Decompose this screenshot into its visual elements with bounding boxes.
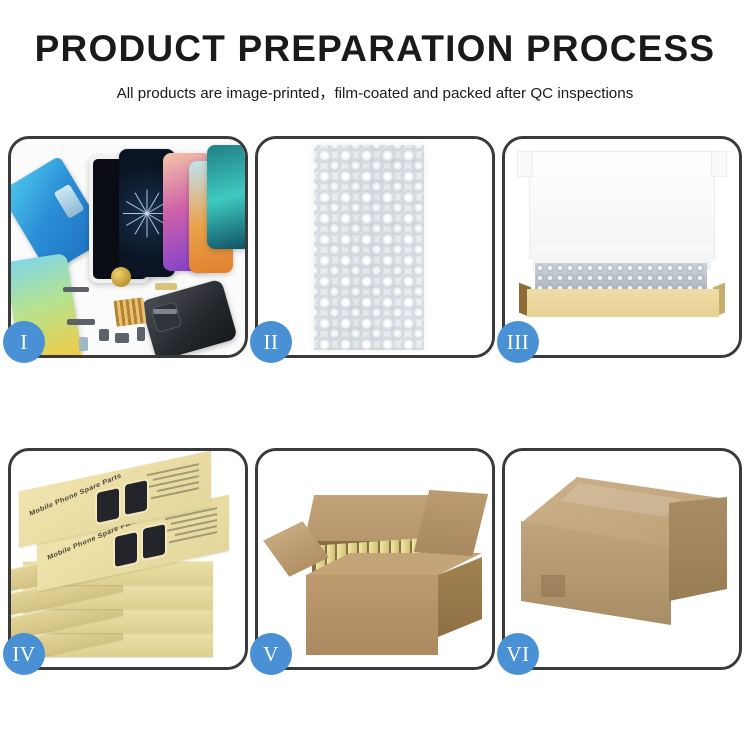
part-gold-disc <box>111 267 131 287</box>
step-badge-5: V <box>250 633 292 675</box>
step-panel-2: II <box>255 136 495 358</box>
open-carton <box>272 491 484 665</box>
step-badge-6: VI <box>497 633 539 675</box>
lid-phone-thumb-4 <box>143 524 165 559</box>
lid-phone-thumb-3 <box>115 532 137 567</box>
part-flex-cable-2 <box>67 319 95 325</box>
page-subtitle: All products are image-printed，film-coat… <box>0 81 750 103</box>
bubble-wrap-sheet <box>314 145 424 350</box>
inner-box-lid <box>529 151 715 259</box>
lid-phone-thumb-2 <box>125 480 147 515</box>
part-chip-grid <box>114 297 147 326</box>
step-5-image <box>258 451 492 667</box>
part-flex-cable-1 <box>63 287 89 292</box>
page-title: PRODUCT PREPARATION PROCESS <box>0 29 750 70</box>
step-panel-4: Mobile Phone Spare Parts Mobile Phone Sp… <box>8 448 248 670</box>
part-flex-cable-3 <box>153 309 177 314</box>
step-6-image <box>505 451 739 667</box>
part-connector <box>137 327 145 341</box>
part-button <box>99 329 109 341</box>
retail-box-stack: Mobile Phone Spare Parts Mobile Phone Sp… <box>15 469 243 661</box>
part-speaker <box>115 333 129 343</box>
spare-parts-group <box>63 279 213 355</box>
step-2-image <box>258 139 492 355</box>
inner-box-front-panel <box>527 289 719 317</box>
step-badge-1: I <box>3 321 45 363</box>
product-preparation-infographic: PRODUCT PREPARATION PROCESS All products… <box>0 0 750 750</box>
sealed-carton <box>521 477 727 649</box>
step-panel-1: I <box>8 136 248 358</box>
step-panel-3: III <box>502 136 742 358</box>
process-steps-grid: I II III <box>8 136 742 670</box>
step-badge-4: IV <box>3 633 45 675</box>
part-sim-tray <box>79 337 88 351</box>
inner-box-bubble-contents <box>535 263 707 291</box>
step-1-image <box>11 139 245 355</box>
part-bracket-1 <box>155 283 177 290</box>
phone-teal-screen <box>207 145 245 249</box>
sealed-carton-tab-upper <box>541 575 565 597</box>
step-3-image <box>505 139 739 355</box>
bubble-layer-back <box>314 145 424 350</box>
step-4-image: Mobile Phone Spare Parts Mobile Phone Sp… <box>11 451 245 667</box>
header: PRODUCT PREPARATION PROCESS All products… <box>0 0 750 103</box>
carton-front-face <box>306 575 438 655</box>
sealed-carton-side <box>669 497 729 627</box>
sealed-carton-seam <box>561 483 681 529</box>
step-badge-3: III <box>497 321 539 363</box>
lid-phone-thumb-1 <box>97 488 119 523</box>
sealed-carton-tab-lower <box>561 625 587 645</box>
step-panel-6: VI <box>502 448 742 670</box>
step-badge-2: II <box>250 321 292 363</box>
step-panel-5: V <box>255 448 495 670</box>
